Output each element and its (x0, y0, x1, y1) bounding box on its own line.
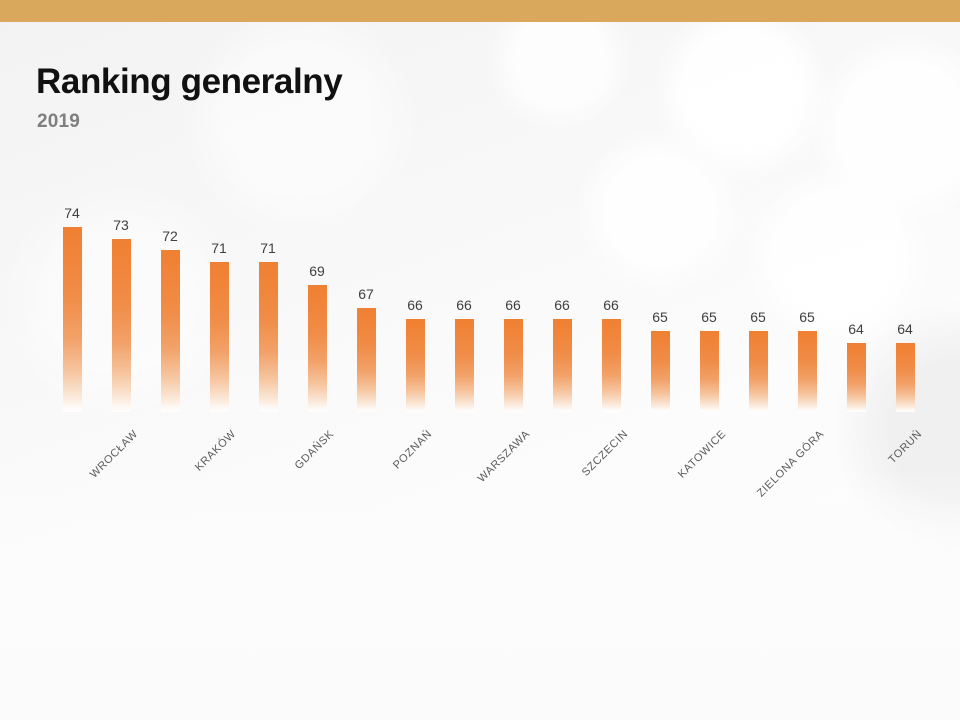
bar-fill (504, 319, 523, 412)
bar[interactable] (63, 227, 82, 412)
category-axis-label: WARSZAWA (476, 428, 533, 485)
bar-fill (63, 227, 82, 412)
bar[interactable] (308, 285, 327, 412)
category-axis-label: KATOWICE (676, 428, 729, 481)
bar-fill (749, 331, 768, 412)
slide-canvas: Ranking generalny 2019 74WROCŁAW73KRAKÓW… (0, 0, 960, 720)
category-axis-label: WROCŁAW (88, 428, 141, 481)
bar-fill (700, 331, 719, 412)
category-axis-label: KRAKÓW (193, 428, 239, 474)
bar[interactable] (700, 331, 719, 412)
bar-fill (357, 308, 376, 412)
bar-chart: 74WROCŁAW73KRAKÓW72GDAŃSK71POZNAŃ71WARSZ… (0, 0, 960, 720)
bar[interactable] (896, 343, 915, 413)
bar-fill (651, 331, 670, 412)
bar-fill (847, 343, 866, 413)
bar[interactable] (553, 319, 572, 412)
bar[interactable] (798, 331, 817, 412)
bar-fill (259, 262, 278, 412)
bar[interactable] (406, 319, 425, 412)
bar-fill (553, 319, 572, 412)
bar[interactable] (847, 343, 866, 413)
bar[interactable] (455, 319, 474, 412)
bar[interactable] (749, 331, 768, 412)
category-axis-label: POZNAŃ (391, 428, 434, 471)
bar[interactable] (259, 262, 278, 412)
bar[interactable] (357, 308, 376, 412)
bar-fill (210, 262, 229, 412)
category-axis-label: ZIELONA GÓRA (755, 428, 826, 499)
bar-value-label: 69 (287, 263, 347, 279)
bar[interactable] (112, 239, 131, 412)
bar-fill (406, 319, 425, 412)
bar-fill (896, 343, 915, 413)
bar[interactable] (602, 319, 621, 412)
bar-value-label: 64 (875, 321, 935, 337)
bar-fill (308, 285, 327, 412)
category-axis-label: TORUŃ (886, 428, 924, 466)
category-axis-label: GDAŃSK (293, 428, 337, 472)
bar-fill (602, 319, 621, 412)
bar-fill (161, 250, 180, 412)
bar-value-label: 71 (238, 240, 298, 256)
bar[interactable] (651, 331, 670, 412)
bar[interactable] (161, 250, 180, 412)
bar-fill (112, 239, 131, 412)
bar[interactable] (504, 319, 523, 412)
bar-fill (798, 331, 817, 412)
bar[interactable] (210, 262, 229, 412)
category-axis-label: SZCZECIN (580, 428, 631, 479)
bar-fill (455, 319, 474, 412)
